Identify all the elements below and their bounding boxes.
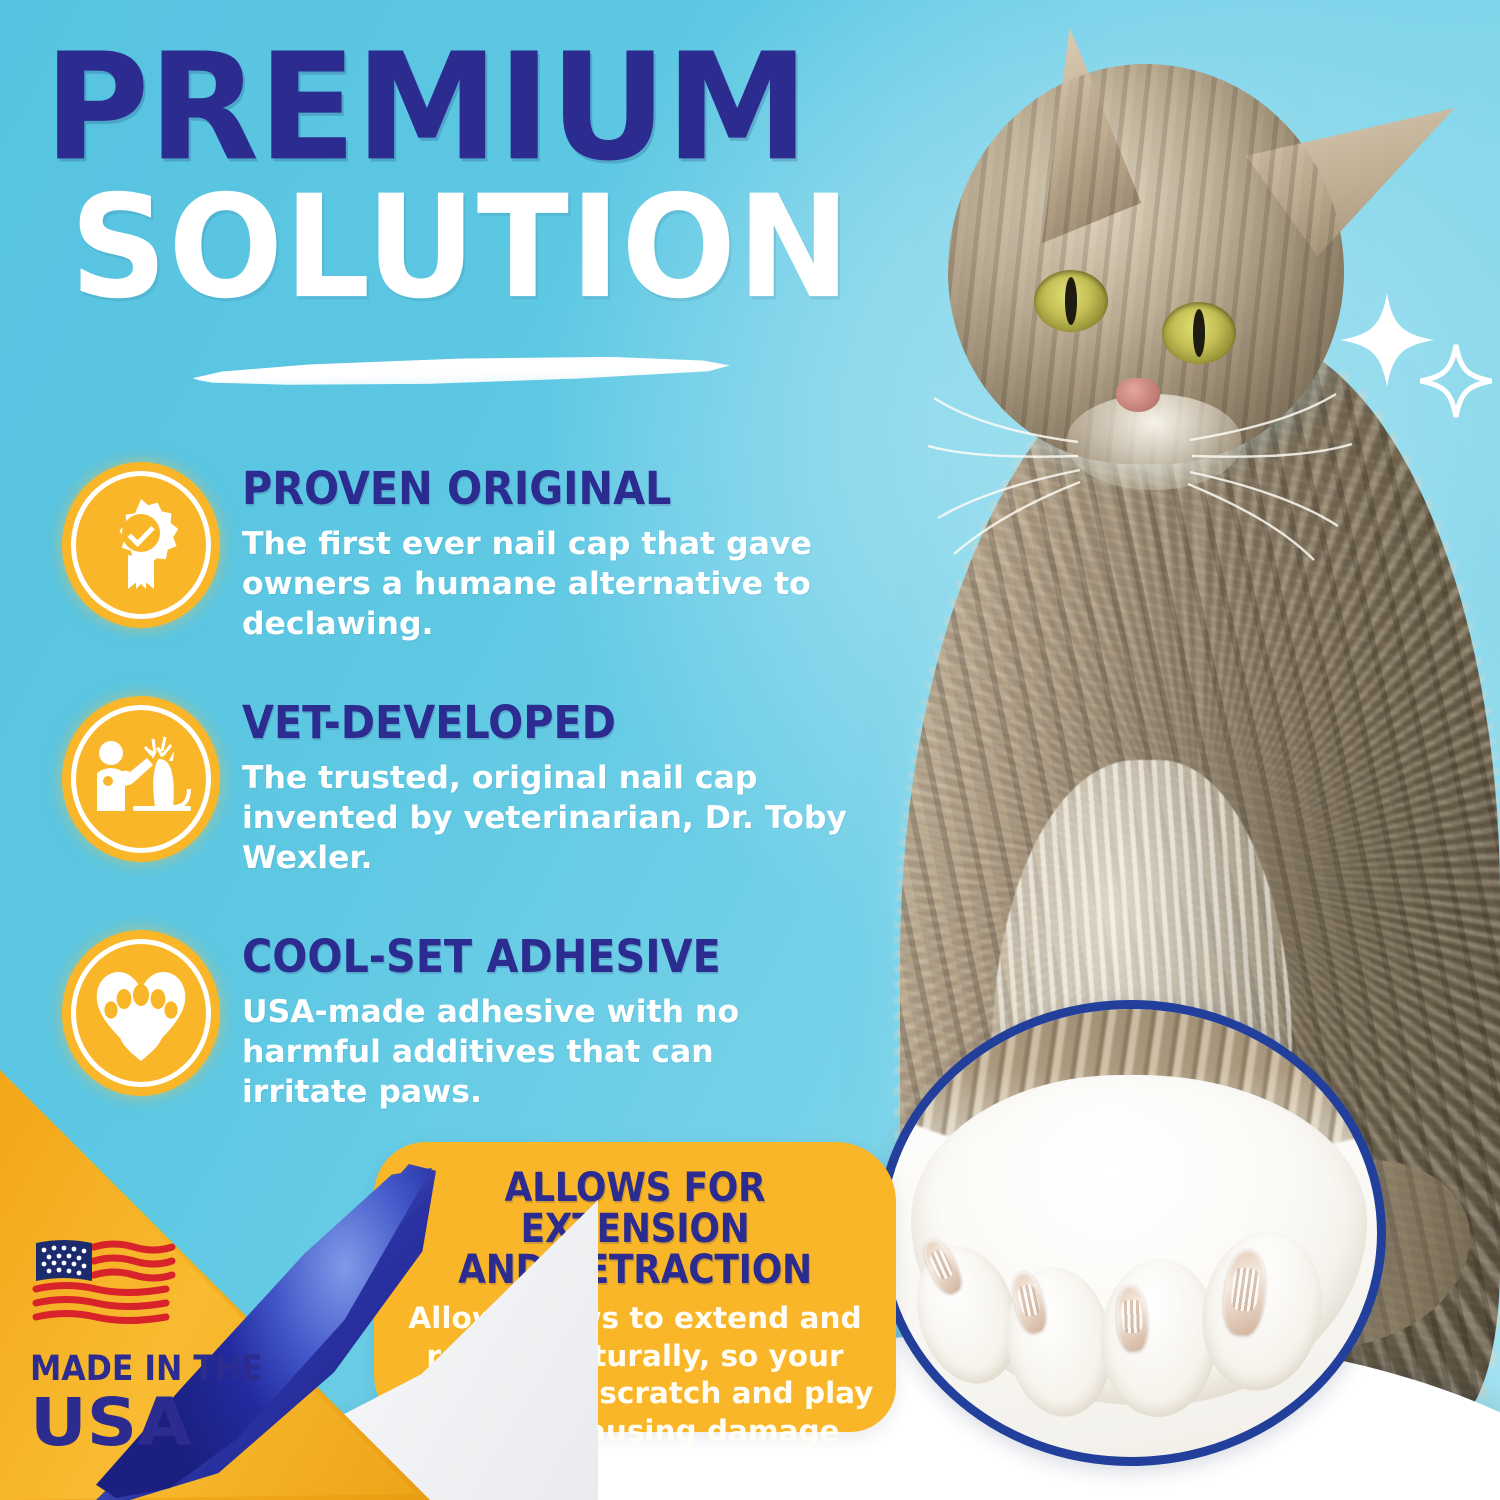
headline-line-premium: PREMIUM: [44, 46, 947, 170]
features-list: PROVEN ORIGINAL The first ever nail cap …: [62, 462, 862, 1164]
feature-proven-original: PROVEN ORIGINAL The first ever nail cap …: [62, 462, 862, 644]
feature-text: PROVEN ORIGINAL The first ever nail cap …: [242, 462, 842, 644]
headline-line-solution: SOLUTION: [70, 187, 1004, 309]
feature-vet-developed: VET-DEVELOPED The trusted, original nail…: [62, 696, 862, 878]
made-in-usa-line-1: MADE IN THE: [30, 1352, 280, 1387]
sparkle-icon: [1420, 344, 1492, 418]
award-ribbon-icon: [62, 462, 220, 628]
callout-title-line-1: ALLOWS FOR EXTENSION: [396, 1168, 874, 1250]
feature-title: VET-DEVELOPED: [242, 700, 874, 745]
product-infographic-poster: PREMIUM SOLUTION PROVEN ORIGINAL Th: [0, 0, 1500, 1500]
feature-text: VET-DEVELOPED The trusted, original nail…: [242, 696, 862, 878]
headline-block: PREMIUM SOLUTION: [44, 46, 904, 302]
callout-title-line-2: AND RETRACTION: [396, 1250, 874, 1291]
feature-title: COOL-SET ADHESIVE: [242, 934, 854, 979]
paw-closeup-circle: [876, 1000, 1386, 1466]
vet-with-cat-icon: [62, 696, 220, 862]
feature-body: The first ever nail cap that gave owners…: [242, 524, 842, 644]
cat-head: [948, 64, 1344, 464]
feature-text: COOL-SET ADHESIVE USA-made adhesive with…: [242, 930, 842, 1112]
feature-cool-set-adhesive: COOL-SET ADHESIVE USA-made adhesive with…: [62, 930, 862, 1112]
cat-eye-right: [1162, 302, 1236, 364]
feature-body: USA-made adhesive with no harmful additi…: [242, 992, 842, 1112]
made-in-usa-line-2: USA: [30, 1390, 295, 1456]
heart-paw-icon: [62, 930, 220, 1096]
made-in-usa-badge: MADE IN THE USA: [30, 1237, 280, 1456]
feature-title: PROVEN ORIGINAL: [242, 466, 854, 511]
usa-flag-icon: [30, 1237, 178, 1333]
cat-eye-left: [1034, 270, 1108, 332]
feature-body: The trusted, original nail cap invented …: [242, 758, 862, 878]
cat-whiskers: [928, 364, 1388, 604]
